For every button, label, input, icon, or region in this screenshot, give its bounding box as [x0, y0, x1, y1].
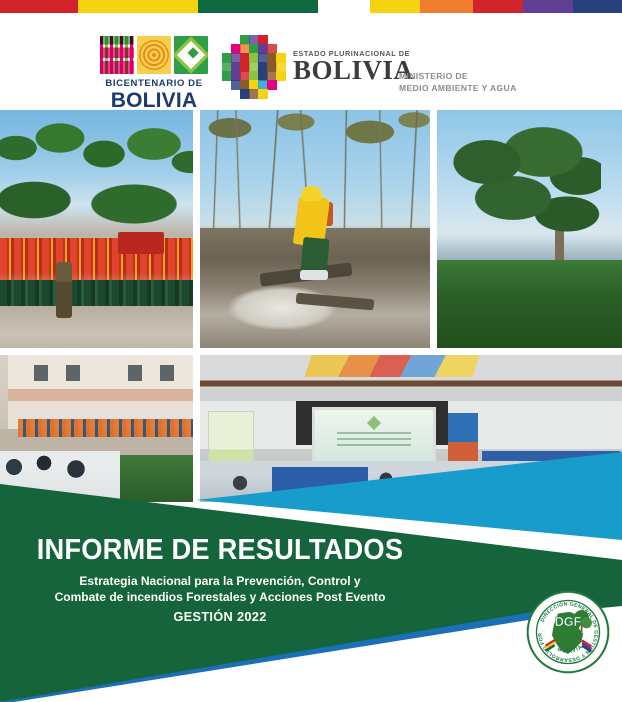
subtitle-line-1: Estrategia Nacional para la Prevención, …	[7, 573, 434, 589]
gestion-year: GESTIÓN 2022	[0, 609, 440, 624]
cover-title-block: INFORME DE RESULTADOS Estrategia Naciona…	[0, 536, 440, 624]
report-cover-page: BICENTENARIO DE BOLIVIA ESTADO PLURINACI…	[0, 0, 622, 702]
seal-acronym: DGF	[555, 615, 582, 629]
dgf-institutional-seal: DIRECCIÓN GENERAL DE GESTIÓN Y DESARROLL…	[526, 590, 610, 674]
subtitle-line-2: Combate de incendios Forestales y Accion…	[7, 589, 434, 605]
page-title: INFORME DE RESULTADOS	[13, 536, 427, 565]
